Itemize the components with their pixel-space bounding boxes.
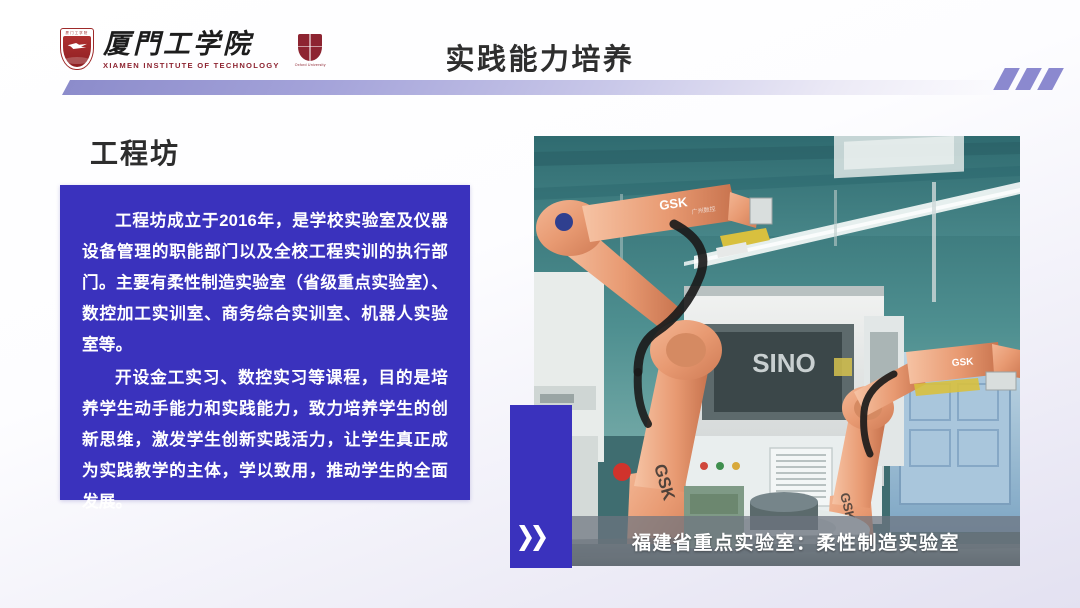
header-slash-decor — [999, 68, 1058, 90]
description-paragraph-1: 工程坊成立于2016年，是学校实验室及仪器设备管理的职能部门以及全校工程实训的执… — [82, 205, 448, 360]
section-heading: 工程坊 — [90, 132, 180, 172]
header-divider-band — [62, 80, 1010, 95]
photo-caption-text: 福建省重点实验室：柔性制造实验室 — [632, 528, 960, 555]
page-title: 实践能力培养 — [0, 36, 1080, 78]
photo-caption-bar: 福建省重点实验室：柔性制造实验室 — [572, 516, 1020, 566]
lab-photo-illustration: SINO 精密加工 — [534, 136, 1020, 566]
crest-motto-text: 厦门工学院 — [60, 31, 94, 35]
slash-decor-icon — [1037, 68, 1064, 90]
lab-photo: SINO 精密加工 — [534, 136, 1020, 566]
slide-header: 厦门工学院 厦門工学院 XIAMEN INSTITUTE OF TECHNOLO… — [0, 0, 1080, 112]
description-paragraph-2: 开设金工实习、数控实习等课程，目的是培养学生动手能力和实践能力，致力培养学生的创… — [82, 362, 448, 517]
double-chevron-icon — [519, 525, 546, 551]
slide-canvas: 厦门工学院 厦門工学院 XIAMEN INSTITUTE OF TECHNOLO… — [0, 0, 1080, 608]
photo-accent-block — [510, 405, 572, 568]
description-card: 工程坊成立于2016年，是学校实验室及仪器设备管理的职能部门以及全校工程实训的执… — [60, 185, 470, 500]
